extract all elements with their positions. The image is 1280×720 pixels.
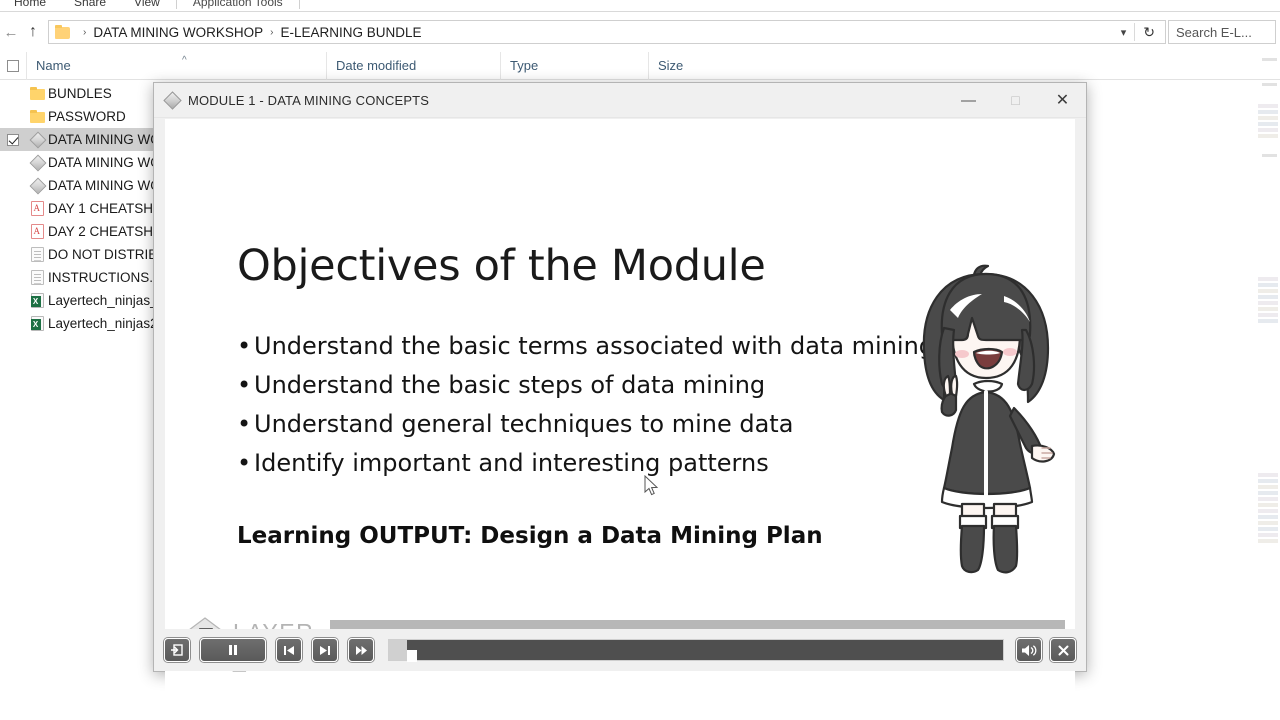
next-button[interactable]: [312, 638, 338, 662]
folder-icon: [26, 110, 48, 123]
window-controls: — □ ✕: [945, 83, 1086, 118]
folder-icon: [26, 87, 48, 100]
ribbon-divider: [176, 0, 177, 9]
excel-icon: [26, 316, 48, 331]
volume-icon: [1021, 644, 1037, 657]
breadcrumb-separator-0: ›: [76, 27, 93, 38]
window-title: MODULE 1 - DATA MINING CONCEPTS: [188, 93, 429, 108]
progress-bar[interactable]: [388, 639, 1004, 661]
diamond-icon: [26, 156, 48, 170]
player-right-controls: [1016, 638, 1076, 662]
diamond-icon: [26, 133, 48, 147]
list-item-label: BUNDLES: [48, 86, 112, 101]
ribbon-tab-view[interactable]: View: [120, 0, 174, 11]
column-header-type[interactable]: Type: [500, 52, 648, 80]
volume-button[interactable]: [1016, 638, 1042, 662]
ribbon-tab-share[interactable]: Share: [60, 0, 120, 11]
caret-up-icon: ^: [182, 47, 187, 75]
ribbon-divider-2: [299, 0, 300, 9]
close-icon: [1058, 645, 1069, 656]
close-button[interactable]: ✕: [1039, 83, 1086, 118]
address-bar: ← ↑ › DATA MINING WORKSHOP › E-LEARNING …: [0, 14, 1280, 50]
column-header-size[interactable]: Size: [648, 52, 748, 80]
progress-played: [389, 640, 407, 660]
pdf-icon: [26, 224, 48, 239]
column-header-name[interactable]: Name ^: [26, 52, 326, 80]
list-item-label: DATA MINING WO: [48, 132, 161, 147]
pdf-icon: [26, 201, 48, 216]
bullet-item: Understand general techniques to mine da…: [237, 405, 917, 444]
chevron-down-icon[interactable]: ▾: [1113, 26, 1135, 39]
details-pane: [1256, 30, 1280, 570]
breadcrumb-right-controls: ▾ ↻: [1113, 23, 1163, 41]
close-player-button[interactable]: [1050, 638, 1076, 662]
breadcrumb-separator-1: ›: [263, 27, 280, 38]
list-item-label: PASSWORD: [48, 109, 126, 124]
pause-icon: [228, 644, 238, 656]
ribbon-tab-strip: Home Share View Application Tools: [0, 0, 1280, 12]
fast-forward-icon: [355, 645, 368, 656]
mouse-cursor: [644, 475, 660, 499]
next-icon: [319, 645, 331, 656]
chibi-character-illustration: [900, 252, 1070, 582]
slide-bullet-list: Understand the basic terms associated wi…: [237, 327, 917, 483]
column-header-date-modified[interactable]: Date modified: [326, 52, 500, 80]
bullet-item: Understand the basic steps of data minin…: [237, 366, 917, 405]
fast-forward-button[interactable]: [348, 638, 374, 662]
previous-icon: [283, 645, 295, 656]
player-control-bar: [154, 629, 1086, 671]
ribbon-tab-home[interactable]: Home: [0, 0, 60, 11]
exit-button[interactable]: [164, 638, 190, 662]
breadcrumb-item-bundle[interactable]: E-LEARNING BUNDLE: [280, 25, 421, 40]
ribbon-tab-application-tools[interactable]: Application Tools: [179, 0, 297, 11]
breadcrumb-item-workshop[interactable]: DATA MINING WORKSHOP: [93, 25, 263, 40]
previous-button[interactable]: [276, 638, 302, 662]
diamond-icon: [164, 92, 180, 108]
excel-icon: [26, 293, 48, 308]
maximize-button[interactable]: □: [992, 83, 1039, 118]
select-all-checkbox[interactable]: [0, 60, 26, 72]
column-header-name-label: Name: [36, 58, 71, 73]
list-item-label: DATA MINING WO: [48, 155, 161, 170]
bullet-item: Understand the basic terms associated wi…: [237, 327, 917, 366]
exit-icon: [171, 644, 183, 656]
list-item-label: INSTRUCTIONS.txt: [48, 270, 167, 285]
bullet-item: Identify important and interesting patte…: [237, 444, 917, 483]
text-file-icon: [26, 247, 48, 262]
column-header-row: Name ^ Date modified Type Size: [0, 52, 1280, 80]
learning-output-text: Learning OUTPUT: Design a Data Mining Pl…: [237, 523, 823, 549]
slide-title: Objectives of the Module: [237, 241, 765, 291]
back-button[interactable]: ←: [0, 18, 22, 46]
minimize-button[interactable]: —: [945, 83, 992, 118]
progress-handle[interactable]: [407, 650, 417, 662]
folder-icon: [55, 25, 71, 39]
refresh-icon[interactable]: ↻: [1135, 24, 1163, 41]
presentation-player-window: MODULE 1 - DATA MINING CONCEPTS — □ ✕ Ob…: [153, 82, 1087, 672]
row-checkbox[interactable]: [0, 134, 26, 146]
breadcrumb[interactable]: › DATA MINING WORKSHOP › E-LEARNING BUND…: [48, 20, 1166, 44]
pause-button[interactable]: [200, 638, 266, 662]
diamond-icon: [26, 179, 48, 193]
list-item-label: DATA MINING WO: [48, 178, 161, 193]
player-title-bar[interactable]: MODULE 1 - DATA MINING CONCEPTS — □ ✕: [154, 83, 1086, 118]
text-file-icon: [26, 270, 48, 285]
slide-canvas: Objectives of the Module Understand the …: [165, 119, 1075, 705]
up-button[interactable]: ↑: [22, 18, 44, 46]
